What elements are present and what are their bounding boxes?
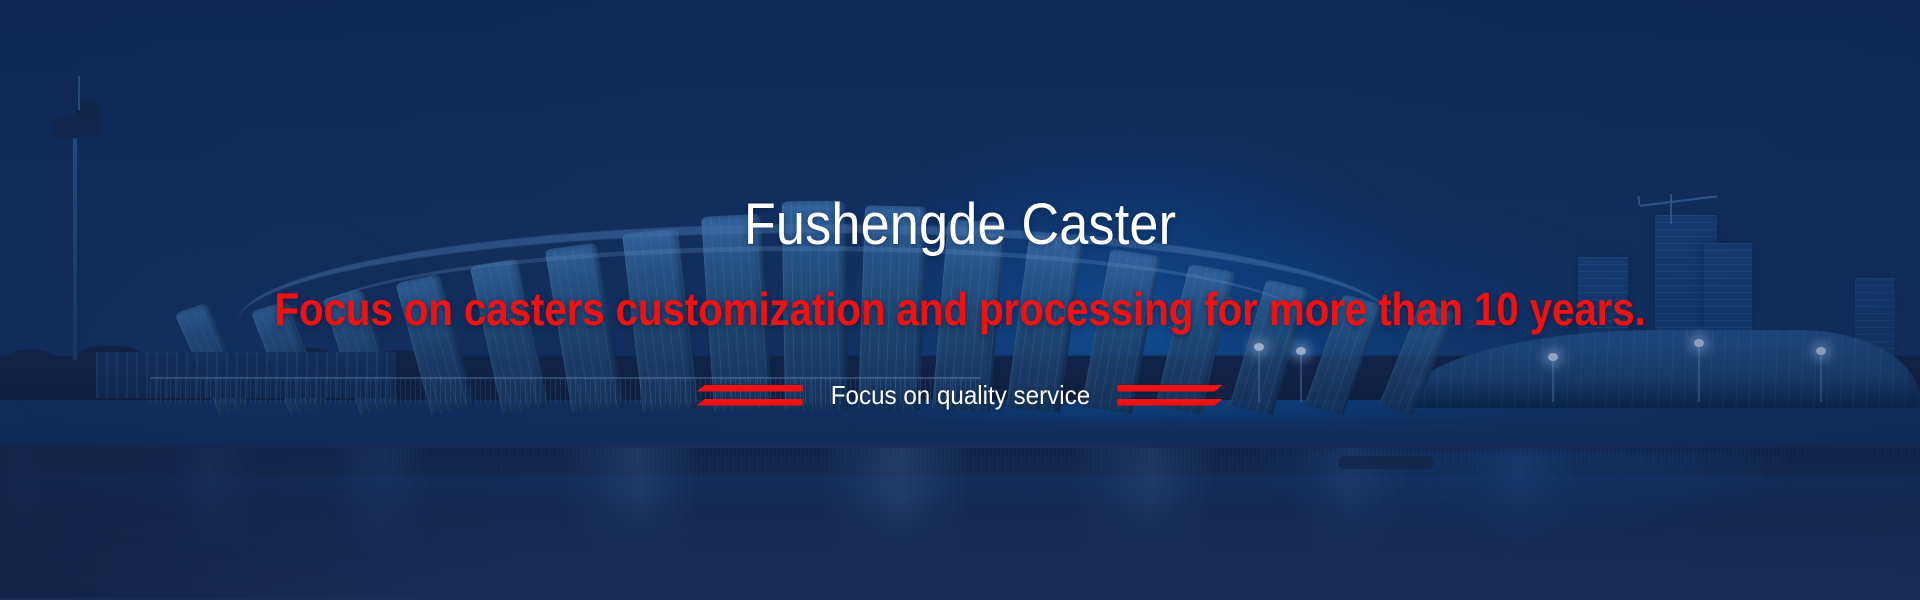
accent-bar: [697, 399, 803, 406]
accent-bar: [1117, 385, 1223, 392]
page-title: Fushengde Caster: [96, 196, 1824, 254]
hero-banner: Fushengde Caster Focus on casters custom…: [0, 0, 1920, 600]
accent-bars-right-icon: [1117, 385, 1223, 406]
banner-tagline: Focus on quality service: [830, 382, 1089, 408]
tagline-row: Focus on quality service: [0, 382, 1920, 408]
accent-bar: [697, 385, 803, 392]
accent-bar: [1117, 399, 1223, 406]
banner-subheadline: Focus on casters customization and proce…: [115, 286, 1805, 332]
accent-bars-left-icon: [697, 385, 803, 406]
banner-content: Fushengde Caster Focus on casters custom…: [0, 0, 1920, 600]
